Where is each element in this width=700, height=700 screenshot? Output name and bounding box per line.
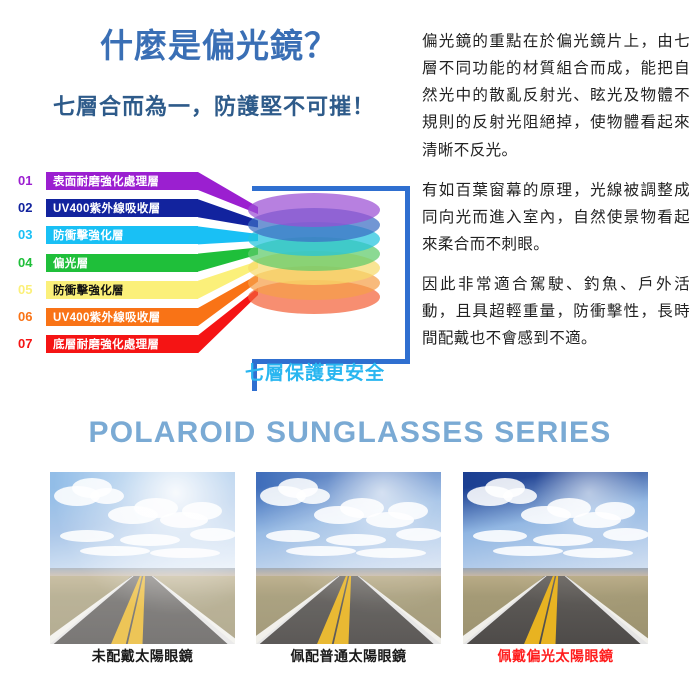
- layer-number: 01: [18, 172, 44, 190]
- brightness-wash: [50, 472, 235, 644]
- layer-bar: 表面耐磨強化處理層: [46, 172, 198, 190]
- page-subtitle: 七層合而為一，防護堅不可摧！: [14, 94, 414, 120]
- comparison-item: 佩戴偏光太陽眼鏡: [463, 472, 648, 644]
- layer-bar: UV400紫外線吸收層: [46, 199, 198, 217]
- description-column: 偏光鏡的重點在於偏光鏡片上，由七層不同功能的材質組合而成，能把自然光中的散亂反射…: [422, 28, 690, 365]
- road-photo[interactable]: [50, 472, 235, 644]
- comparison-caption: 佩戴偏光太陽眼鏡: [463, 646, 648, 666]
- layer-label: 表面耐磨強化處理層: [53, 173, 159, 189]
- road-photo[interactable]: [463, 472, 648, 644]
- layer-label: UV400紫外線吸收層: [53, 200, 160, 216]
- comparison-caption: 佩配普通太陽眼鏡: [256, 646, 441, 666]
- layer-bar: UV400紫外線吸收層: [46, 308, 198, 326]
- layer-label: 防衝擊強化層: [53, 227, 124, 243]
- poster-root: 什麼是偏光鏡？ 七層合而為一，防護堅不可摧！ 偏光鏡的重點在於偏光鏡片上，由七層…: [0, 0, 700, 700]
- description-paragraph-3: 因此非常適合駕駛、釣魚、戶外活動，且具超輕重量，防衝擊性，長時間配戴也不會感到不…: [422, 271, 690, 352]
- brightness-wash: [256, 472, 441, 644]
- comparison-item: 未配戴太陽眼鏡: [50, 472, 235, 644]
- layer-number: 05: [18, 281, 44, 299]
- layer-number: 02: [18, 199, 44, 217]
- road-photo[interactable]: [256, 472, 441, 644]
- layer-number: 07: [18, 335, 44, 353]
- layer-number: 04: [18, 254, 44, 272]
- description-paragraph-2: 有如百葉窗幕的原理，光線被調整成同向光而進入室內，自然使景物看起來柔合而不刺眼。: [422, 177, 690, 258]
- layer-bar: 偏光層: [46, 254, 198, 272]
- lens-layer-disc: [248, 193, 380, 227]
- layer-label: 底層耐磨強化處理層: [53, 336, 159, 352]
- description-paragraph-1: 偏光鏡的重點在於偏光鏡片上，由七層不同功能的材質組合而成，能把自然光中的散亂反射…: [422, 28, 690, 164]
- lens-stack: [248, 193, 380, 323]
- brightness-wash: [463, 472, 648, 644]
- comparison-gallery: 未配戴太陽眼鏡佩配普通太陽眼鏡佩戴偏光太陽眼鏡: [0, 472, 700, 647]
- comparison-caption: 未配戴太陽眼鏡: [50, 646, 235, 666]
- page-title: 什麼是偏光鏡？: [24, 28, 414, 64]
- layer-label: UV400紫外線吸收層: [53, 309, 160, 325]
- layer-bar: 底層耐磨強化處理層: [46, 335, 198, 353]
- layer-number: 03: [18, 226, 44, 244]
- layer-number: 06: [18, 308, 44, 326]
- layer-bar: 防衝擊強化層: [46, 226, 198, 244]
- layer-label: 偏光層: [53, 255, 88, 271]
- stack-caption: 七層保護更安全: [215, 358, 415, 385]
- layer-label: 防衝擊強化層: [53, 282, 124, 298]
- comparison-item: 佩配普通太陽眼鏡: [256, 472, 441, 644]
- series-title: POLAROID SUNGLASSES SERIES: [0, 416, 700, 450]
- layer-bar: 防衝擊強化層: [46, 281, 198, 299]
